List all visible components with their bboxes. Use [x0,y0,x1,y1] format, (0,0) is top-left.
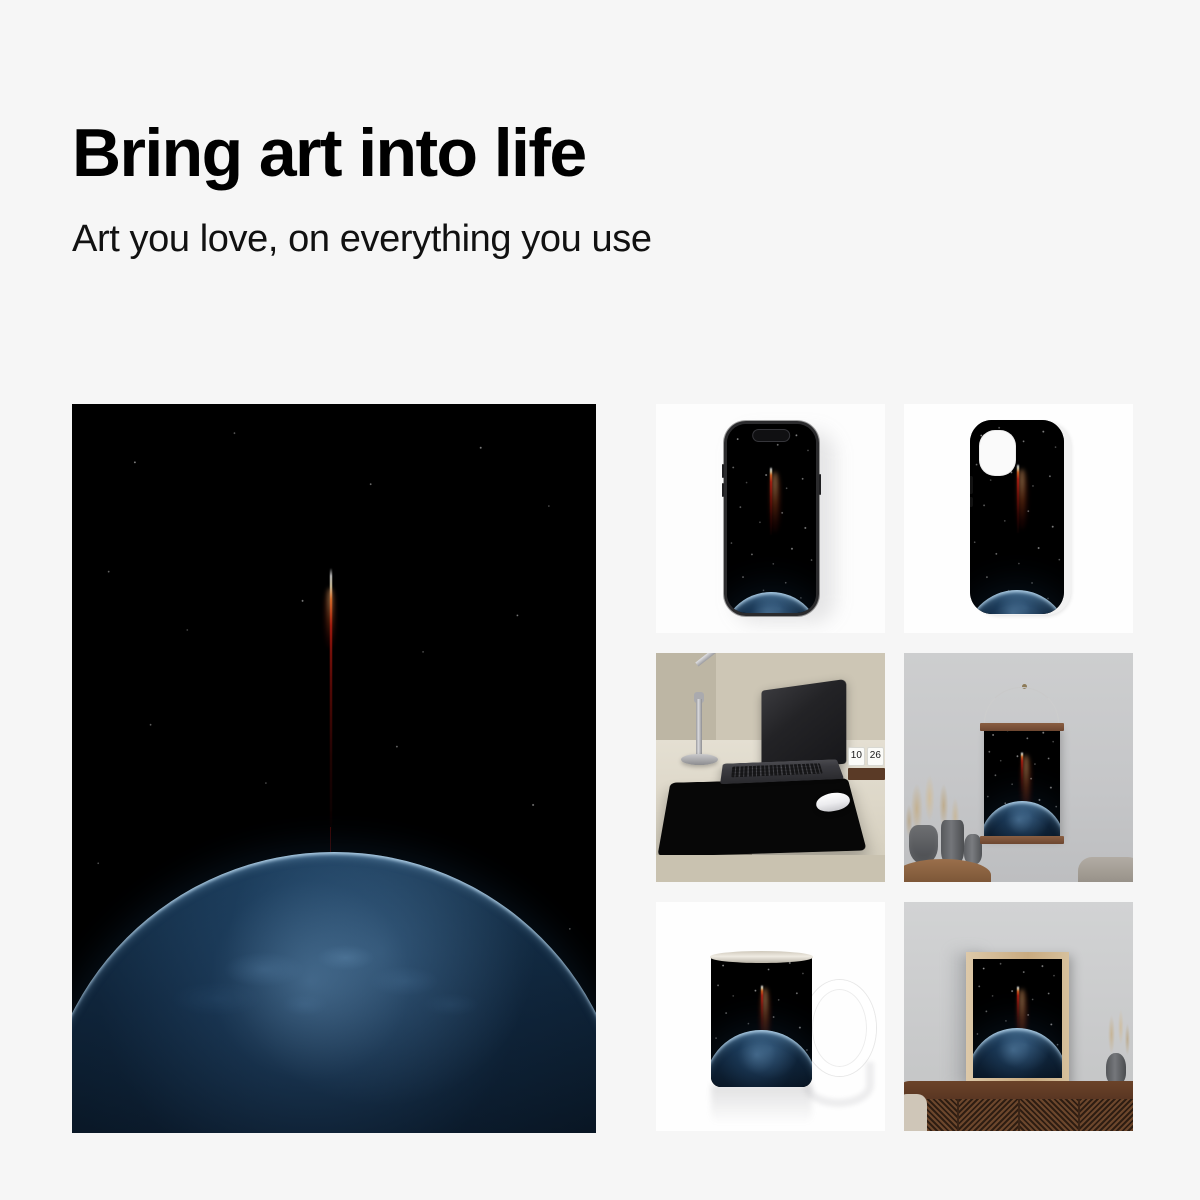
thumbnail-grid: 10 26 [656,404,1133,1133]
pampas-grass [1101,996,1131,1058]
lamp-base [681,754,718,765]
sideboard-doors [904,1099,1133,1131]
laptop-screen [762,679,847,771]
thumb-desk-mat[interactable]: 10 26 [656,653,885,882]
thumb-phone-case[interactable] [904,404,1133,633]
mug-scene [656,902,885,1131]
sideboard-body [904,1099,1133,1131]
thumb-phone[interactable] [656,404,885,633]
phone-scene [656,404,885,633]
mug-reflection [711,1085,812,1124]
framed-artwork [973,959,1062,1078]
mug-printed-artwork [711,955,812,1088]
phone-volume-down-button [722,483,724,497]
framed-print-scene [904,902,1133,1131]
sofa [1078,857,1133,882]
flip-calendar-base [848,768,885,781]
sideboard-panel [1080,1099,1133,1131]
glass-vase [909,825,939,864]
phone-wallpaper-artwork [727,424,816,613]
thumb-hanging-canvas[interactable] [904,653,1133,882]
mug-product [711,955,812,1088]
picture-frame [966,952,1069,1085]
flip-calendar: 10 26 [848,747,884,766]
dynamic-island-notch [752,429,790,442]
desk-mat-scene: 10 26 [656,653,885,882]
meteor-streak [1017,986,1019,1029]
desk-mat-product [658,778,868,856]
canvas-rail-bottom [980,836,1065,844]
hanging-canvas-scene [904,653,1133,882]
phone-power-button [819,474,821,495]
case-back-panel [970,420,1064,614]
meteor-streak [1017,464,1019,534]
armchair [904,1094,927,1131]
case-volume-cutout [970,476,973,493]
phone-screen [727,424,816,613]
page-title: Bring art into life [72,112,1132,194]
header: Bring art into life Art you love, on eve… [72,112,1132,262]
meteor-streak [761,985,763,1033]
hero-artwork[interactable] [72,404,596,1133]
canvas-printed-artwork [984,726,1060,838]
calendar-day-card: 26 [867,747,884,766]
hanging-canvas-product [984,726,1060,838]
phone-device [724,421,819,616]
meteor-streak [330,568,332,830]
meteor-streak [770,467,772,535]
meteor-streak [1021,752,1023,792]
calendar-month-card: 10 [848,747,865,766]
sideboard-panel [959,1099,1019,1131]
thumb-mug[interactable] [656,902,885,1131]
sideboard-panel [1020,1099,1080,1131]
laptop-keyboard [731,763,823,777]
page-root: Bring art into life Art you love, on eve… [0,0,1200,1200]
phone-case-scene [904,404,1133,633]
desk-front-panel [656,855,885,882]
page-subtitle: Art you love, on everything you use [72,194,1132,262]
lamp-stem [696,699,702,759]
frame-printed-artwork [973,959,1062,1078]
camera-cutout [979,430,1017,476]
tall-ceramic-vase [941,820,964,864]
space-artwork [72,404,596,1133]
mug-rim [710,951,813,962]
phone-volume-up-button [722,464,724,478]
canvas-rail-top [980,723,1065,731]
mug-handle-reflection [803,1062,874,1107]
product-gallery: 10 26 [72,404,1133,1133]
thumb-framed-print[interactable] [904,902,1133,1131]
